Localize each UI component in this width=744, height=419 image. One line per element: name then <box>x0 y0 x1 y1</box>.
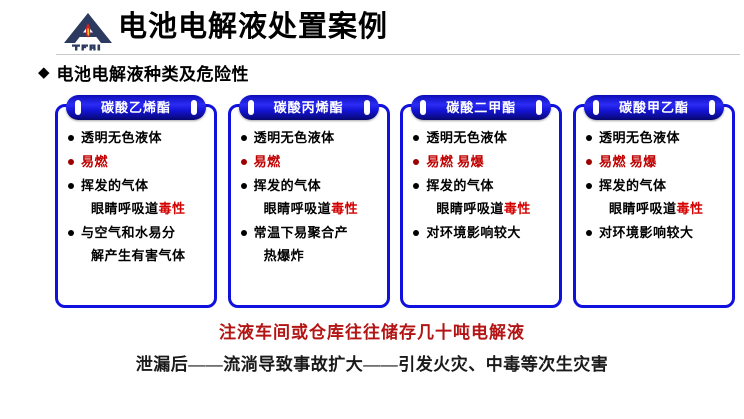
list-item-line2-plain: 眼睛呼吸道 <box>91 201 159 216</box>
card-title: 碳酸二甲酯 <box>446 101 516 114</box>
card-body: 透明无色液体 易燃 易爆 挥发的气体 眼睛呼吸道毒性 对环境影响较大 <box>576 126 732 245</box>
bullet-dot-icon <box>586 183 592 189</box>
list-item: 透明无色液体 <box>413 126 553 149</box>
list-item-line1: 挥发的气体 <box>426 178 494 193</box>
bullet-dot-icon <box>68 183 74 189</box>
bullet-dot-icon <box>68 159 74 165</box>
bullet-dot-icon <box>413 230 419 236</box>
list-item: 对环境影响较大 <box>586 221 726 244</box>
list-item-text: 挥发的气体 眼睛呼吸道毒性 <box>599 174 704 220</box>
card-body: 透明无色液体 易燃 挥发的气体 眼睛呼吸道毒性 与空气和水易分 <box>58 126 214 268</box>
list-item-text: 易燃 易爆 <box>426 150 484 173</box>
bullet-dot-icon <box>586 230 592 236</box>
list-item-line2-plain: 眼睛呼吸道 <box>436 201 504 216</box>
list-item-text: 透明无色液体 <box>599 126 680 149</box>
toxicity-highlight: 毒性 <box>504 201 531 216</box>
list-item-text: 对环境影响较大 <box>426 221 521 244</box>
section-heading-label: 电池电解液种类及危险性 <box>57 60 250 85</box>
bullet-dot-icon <box>413 135 419 141</box>
bullet-dot-icon <box>241 183 247 189</box>
toxicity-highlight: 毒性 <box>331 201 358 216</box>
card-header-badge: 碳酸乙烯酯 <box>66 95 206 120</box>
card-body: 透明无色液体 易燃 挥发的气体 眼睛呼吸道毒性 常温下易聚合产 <box>231 126 387 268</box>
list-item-text: 与空气和水易分 解产生有害气体 <box>81 221 186 267</box>
solvent-card: 碳酸乙烯酯 透明无色液体 易燃 挥发的气体 眼睛呼吸道毒性 <box>55 104 217 308</box>
list-item-text: 易燃 易爆 <box>599 150 657 173</box>
list-item-line1: 挥发的气体 <box>81 178 149 193</box>
list-item-line2-plain: 眼睛呼吸道 <box>264 201 332 216</box>
list-item-line1: 与空气和水易分 <box>81 225 176 240</box>
list-item: 挥发的气体 眼睛呼吸道毒性 <box>586 174 726 220</box>
list-item: 常温下易聚合产 热爆炸 <box>241 221 381 267</box>
list-item-text: 挥发的气体 眼睛呼吸道毒性 <box>81 174 186 220</box>
tfri-logo <box>60 11 116 51</box>
list-item-line2: 眼睛呼吸道毒性 <box>254 197 359 220</box>
list-item: 挥发的气体 眼睛呼吸道毒性 <box>241 174 381 220</box>
bullet-dot-icon <box>241 135 247 141</box>
list-item-line2-plain: 眼睛呼吸道 <box>609 201 677 216</box>
list-item-line2: 眼睛呼吸道毒性 <box>81 197 186 220</box>
list-item-line1: 挥发的气体 <box>254 178 322 193</box>
footer-warning-text: 注液车间或仓库往往储存几十吨电解液 <box>0 318 744 343</box>
list-item-text: 常温下易聚合产 热爆炸 <box>254 221 349 267</box>
list-item: 透明无色液体 <box>241 126 381 149</box>
list-item: 易燃 易爆 <box>586 150 726 173</box>
list-item-text: 透明无色液体 <box>254 126 335 149</box>
bullet-dot-icon <box>413 159 419 165</box>
list-item-line2: 解产生有害气体 <box>81 244 186 267</box>
list-item-line1: 常温下易聚合产 <box>254 225 349 240</box>
list-item-text: 对环境影响较大 <box>599 221 694 244</box>
toxicity-highlight: 毒性 <box>676 201 703 216</box>
list-item-line1: 挥发的气体 <box>599 178 667 193</box>
solvent-card: 碳酸二甲酯 透明无色液体 易燃 易爆 挥发的气体 眼睛呼吸道毒性 <box>400 104 562 308</box>
list-item-line2: 热爆炸 <box>254 244 349 267</box>
list-item: 易燃 <box>241 150 381 173</box>
list-item: 挥发的气体 眼睛呼吸道毒性 <box>68 174 208 220</box>
card-header-badge: 碳酸甲乙酯 <box>584 95 724 120</box>
card-title: 碳酸乙烯酯 <box>101 101 171 114</box>
list-item-text: 易燃 <box>81 150 108 173</box>
list-item: 透明无色液体 <box>586 126 726 149</box>
list-item-text: 透明无色液体 <box>426 126 507 149</box>
solvent-card-list: 碳酸乙烯酯 透明无色液体 易燃 挥发的气体 眼睛呼吸道毒性 <box>55 104 735 308</box>
page-title: 电池电解液处置案例 <box>118 8 388 46</box>
card-header-badge: 碳酸丙烯酯 <box>239 95 379 120</box>
list-item: 易燃 易爆 <box>413 150 553 173</box>
card-header-badge: 碳酸二甲酯 <box>411 95 551 120</box>
list-item: 挥发的气体 眼睛呼吸道毒性 <box>413 174 553 220</box>
solvent-card: 碳酸丙烯酯 透明无色液体 易燃 挥发的气体 眼睛呼吸道毒性 <box>228 104 390 308</box>
list-item-text: 挥发的气体 眼睛呼吸道毒性 <box>254 174 359 220</box>
bullet-dot-icon <box>586 159 592 165</box>
toxicity-highlight: 毒性 <box>159 201 186 216</box>
bullet-dot-icon <box>68 135 74 141</box>
section-heading: ◆ 电池电解液种类及危险性 <box>38 60 249 85</box>
bullet-dot-icon <box>241 230 247 236</box>
list-item-text: 挥发的气体 眼睛呼吸道毒性 <box>426 174 531 220</box>
bullet-dot-icon <box>413 183 419 189</box>
list-item: 与空气和水易分 解产生有害气体 <box>68 221 208 267</box>
footer-consequence-text: 泄漏后——流淌导致事故扩大——引发火灾、中毒等次生灾害 <box>0 350 744 375</box>
list-item: 易燃 <box>68 150 208 173</box>
title-divider <box>56 54 740 55</box>
bullet-dot-icon <box>241 159 247 165</box>
list-item-text: 透明无色液体 <box>81 126 162 149</box>
list-item: 对环境影响较大 <box>413 221 553 244</box>
diamond-bullet-icon: ◆ <box>38 65 50 80</box>
card-title: 碳酸丙烯酯 <box>274 101 344 114</box>
slide-header: 电池电解液处置案例 <box>0 0 744 55</box>
list-item-line2: 眼睛呼吸道毒性 <box>599 197 704 220</box>
bullet-dot-icon <box>68 230 74 236</box>
list-item-text: 易燃 <box>254 150 281 173</box>
bullet-dot-icon <box>586 135 592 141</box>
card-title: 碳酸甲乙酯 <box>619 101 689 114</box>
list-item-line2: 眼睛呼吸道毒性 <box>426 197 531 220</box>
solvent-card: 碳酸甲乙酯 透明无色液体 易燃 易爆 挥发的气体 眼睛呼吸道毒性 <box>573 104 735 308</box>
card-body: 透明无色液体 易燃 易爆 挥发的气体 眼睛呼吸道毒性 对环境影响较大 <box>403 126 559 245</box>
list-item: 透明无色液体 <box>68 126 208 149</box>
